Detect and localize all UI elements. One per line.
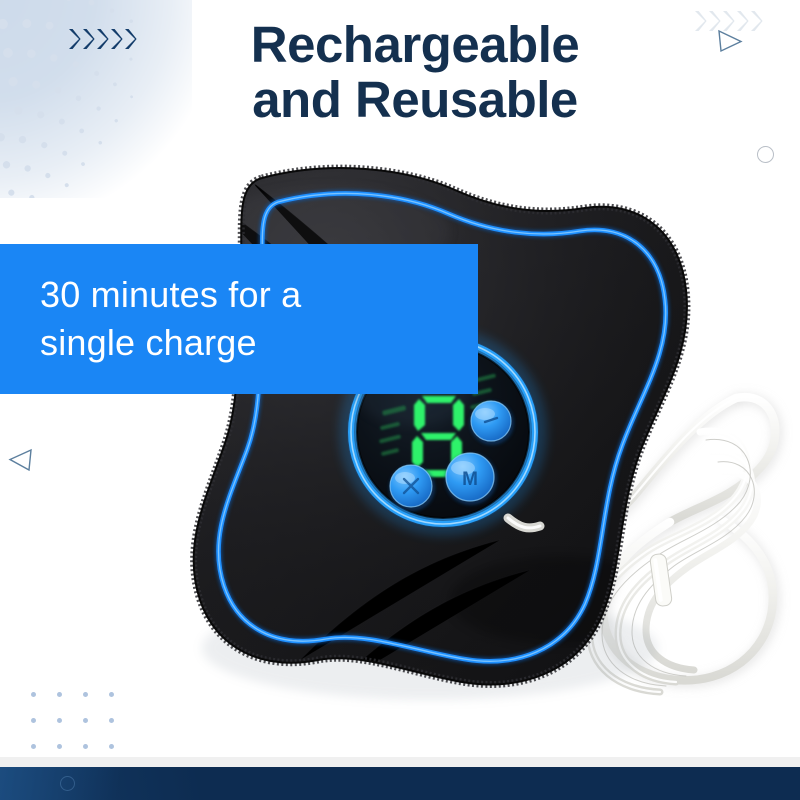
promo-banner-page: Rechargeable and Reusable bbox=[0, 0, 800, 800]
svg-text:M: M bbox=[462, 469, 478, 490]
power-button[interactable] bbox=[470, 401, 514, 445]
footer-texture bbox=[0, 767, 800, 800]
feature-banner-line-1: 30 minutes for a bbox=[40, 271, 478, 319]
footer-ring-decoration bbox=[60, 776, 75, 791]
footer-divider bbox=[0, 757, 800, 767]
intensity-button[interactable] bbox=[389, 465, 435, 511]
feature-banner: 30 minutes for a single charge bbox=[0, 244, 478, 394]
footer-band bbox=[0, 767, 800, 800]
feature-banner-line-2: single charge bbox=[40, 319, 478, 367]
mode-button[interactable]: M bbox=[445, 453, 497, 505]
